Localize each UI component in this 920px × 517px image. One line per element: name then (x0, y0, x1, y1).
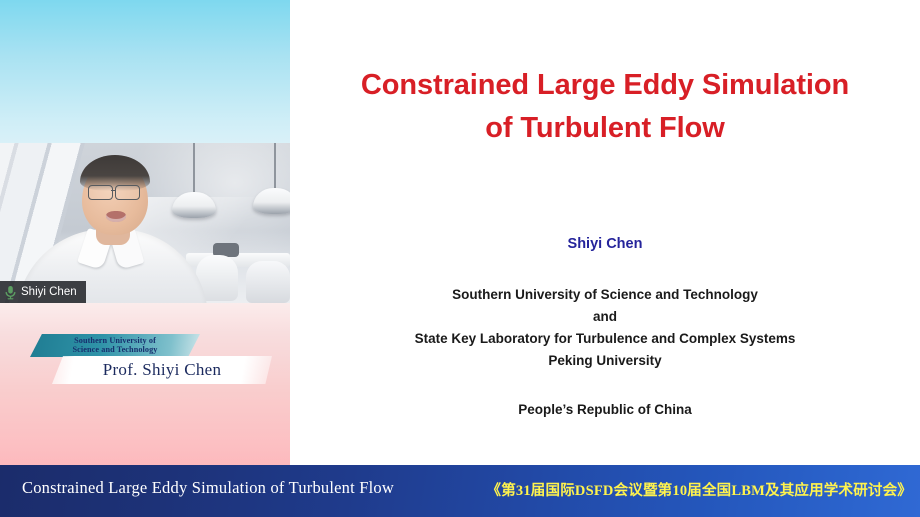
video-name-overlay: Shiyi Chen (0, 281, 86, 303)
affiliation-line-4: Peking University (290, 350, 920, 372)
nameplate-org-ribbon: Southern University of Science and Techn… (30, 334, 200, 357)
affiliation-line-2: and (290, 306, 920, 328)
banner-title-chinese: 《第31届国际DSFD会议暨第10届全国LBM及其应用学术研讨会》 (487, 479, 913, 500)
slide-title: Constrained Large Eddy Simulation of Tur… (290, 64, 920, 150)
glasses-bridge (111, 190, 116, 191)
webcam-video-tile[interactable]: Shiyi Chen (0, 143, 290, 303)
nameplate-name-bar: Prof. Shiyi Chen (52, 356, 272, 384)
bottom-banner: Constrained Large Eddy Simulation of Tur… (0, 465, 920, 517)
slide-country-line: People’s Republic of China (290, 402, 920, 417)
nameplate-presenter-name: Prof. Shiyi Chen (103, 360, 222, 380)
video-name-label: Shiyi Chen (21, 286, 77, 298)
presenter-mouth (106, 211, 126, 222)
banner-title-english: Constrained Large Eddy Simulation of Tur… (22, 478, 394, 498)
slide-affiliation-block: Southern University of Science and Techn… (290, 284, 920, 372)
slide-author-name: Shiyi Chen (290, 236, 920, 252)
nameplate-org-line2: Science and Technology (73, 346, 158, 354)
slide-title-line2: of Turbulent Flow (290, 107, 920, 150)
lamp-cord-icon (193, 143, 195, 193)
lower-third-nameplate: Southern University of Science and Techn… (24, 334, 272, 384)
slide-content-area: Constrained Large Eddy Simulation of Tur… (290, 0, 920, 465)
presentation-screen: Shiyi Chen Southern University of Scienc… (0, 0, 920, 517)
affiliation-line-3: State Key Laboratory for Turbulence and … (290, 328, 920, 350)
glasses-icon (88, 185, 113, 200)
glasses-icon (115, 185, 140, 200)
lamp-cord-icon (274, 143, 276, 189)
affiliation-line-1: Southern University of Science and Techn… (290, 284, 920, 306)
microphone-icon (4, 285, 17, 300)
slide-title-line1: Constrained Large Eddy Simulation (290, 64, 920, 107)
presenter-panel: Shiyi Chen Southern University of Scienc… (0, 0, 290, 465)
chair-decoration (246, 261, 290, 303)
